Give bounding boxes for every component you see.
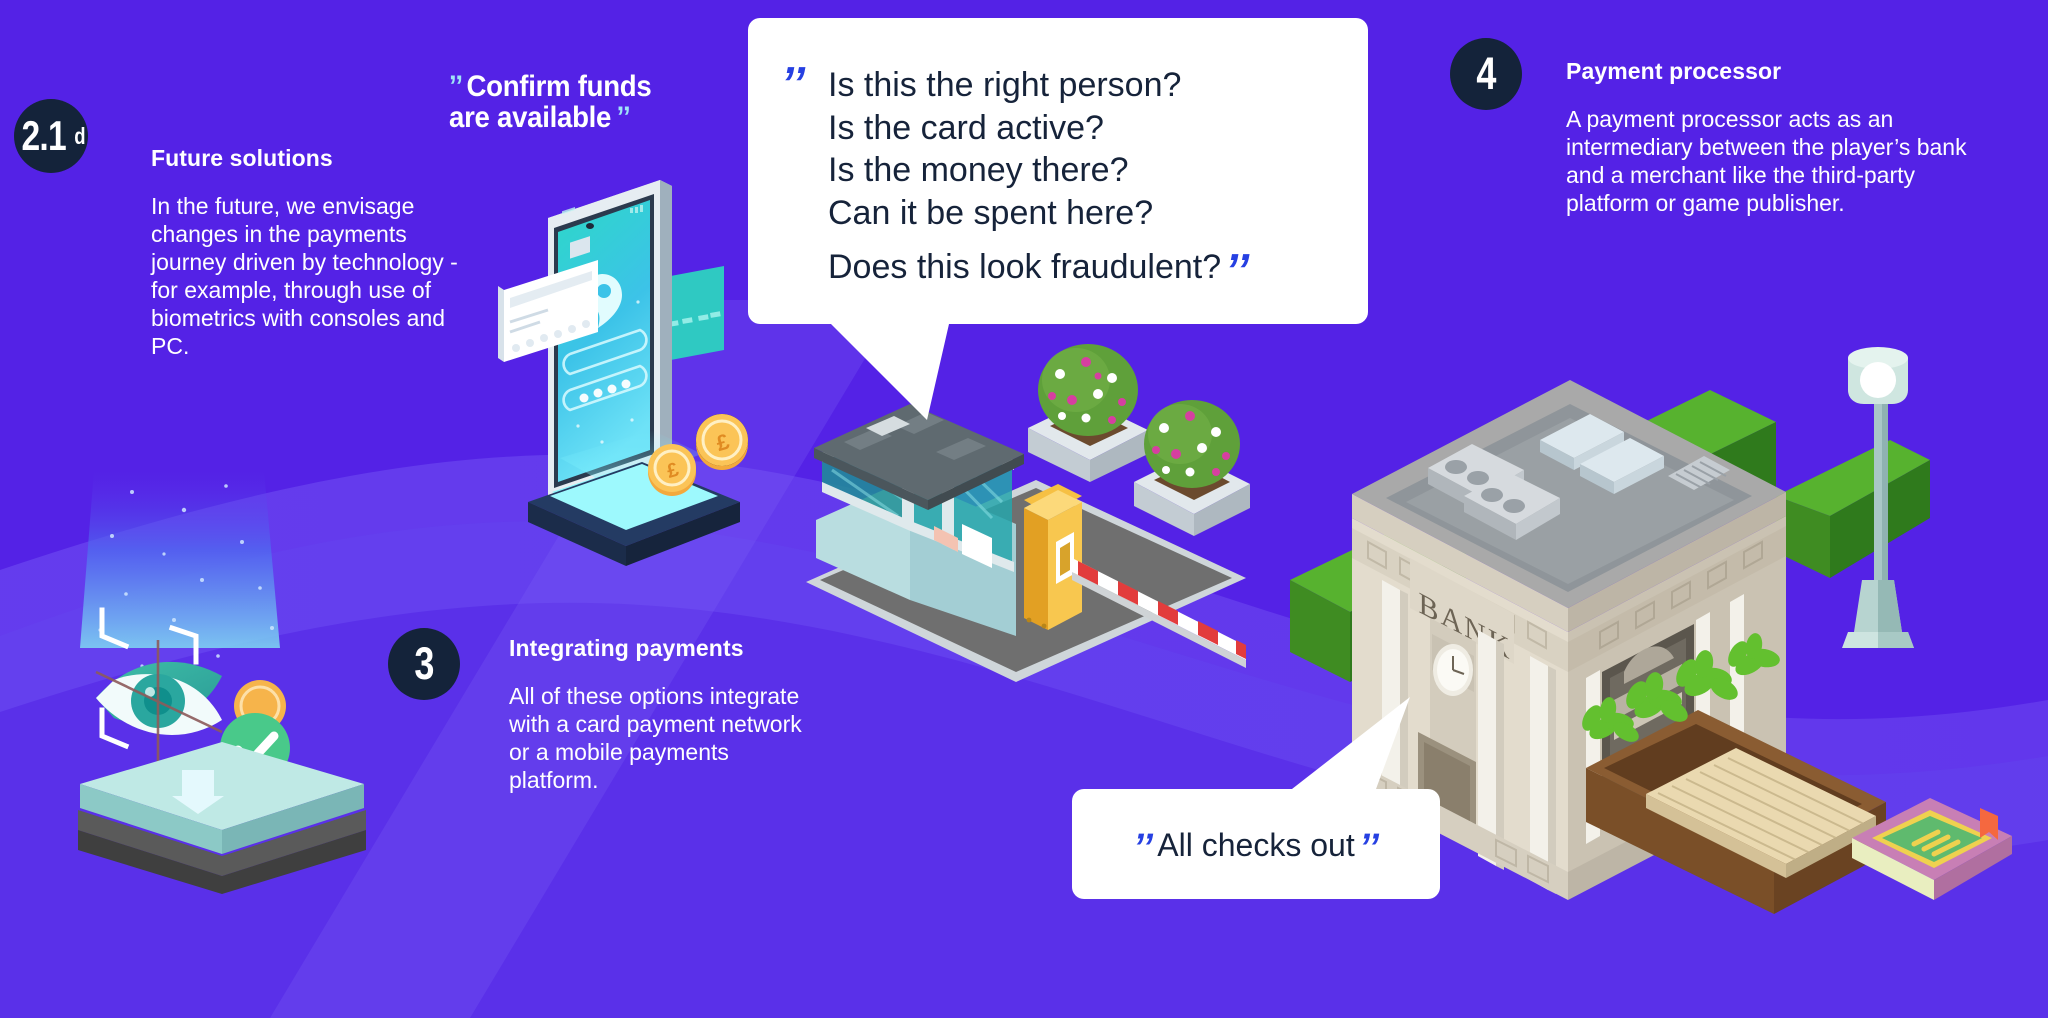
bubble-line: Is the card active? — [828, 107, 1334, 150]
confirm-funds-line-2: are available — [449, 101, 611, 134]
step-badge-3: 3 — [388, 628, 460, 700]
step-heading: Future solutions — [151, 145, 461, 172]
biometric-eye-scanner-illustration — [72, 470, 372, 890]
step-block-integrating-payments: Integrating payments All of these option… — [509, 635, 809, 794]
quote-close-icon: ’’ — [1225, 247, 1249, 294]
step-badge-number: 4 — [1476, 48, 1495, 100]
confirm-funds-caption: ’’Confirm funds are available’’ — [449, 72, 679, 133]
step-block-future-solutions: Future solutions In the future, we envis… — [151, 145, 461, 360]
step-heading: Payment processor — [1566, 58, 1986, 85]
step-badge-number: 2.1 — [22, 112, 66, 160]
step-badge-suffix: d — [74, 123, 84, 150]
quote-close-icon: ’’ — [1359, 827, 1379, 870]
step-heading: Integrating payments — [509, 635, 809, 662]
quote-open-icon: ’’ — [1133, 827, 1153, 870]
speech-bubble-approved: ’’ All checks out ’’ — [1072, 789, 1440, 899]
bubble-line: Does this look fraudulent? — [828, 248, 1221, 286]
quote-open-icon: ’’ — [781, 56, 805, 110]
speech-bubble-tail — [831, 324, 991, 424]
step-block-payment-processor: Payment processor A payment processor ac… — [1566, 58, 1986, 217]
step-badge-4: 4 — [1450, 38, 1522, 110]
step-badge-number: 3 — [414, 638, 433, 690]
bubble-line: Can it be spent here? — [828, 192, 1334, 235]
infographic-canvas: £ £ — [0, 0, 2048, 1018]
speech-bubble-checks: ’’ Is this the right person? Is the card… — [748, 18, 1368, 324]
speech-bubble-tail — [1292, 697, 1422, 789]
bubble-text: All checks out — [1157, 827, 1354, 863]
step-body: In the future, we envisage changes in th… — [151, 192, 461, 360]
bubble-line: Is this the right person? — [828, 64, 1334, 107]
step-body: All of these options integrate with a ca… — [509, 682, 809, 794]
bubble-line: Is the money there? — [828, 149, 1334, 192]
quote-close-icon: ’’ — [617, 101, 631, 134]
quote-open-icon: ’’ — [449, 70, 463, 103]
confirm-funds-line-1: Confirm funds — [466, 70, 651, 103]
step-body: A payment processor acts as an intermedi… — [1566, 105, 1986, 217]
step-badge-2-1d: 2.1d — [14, 99, 88, 173]
